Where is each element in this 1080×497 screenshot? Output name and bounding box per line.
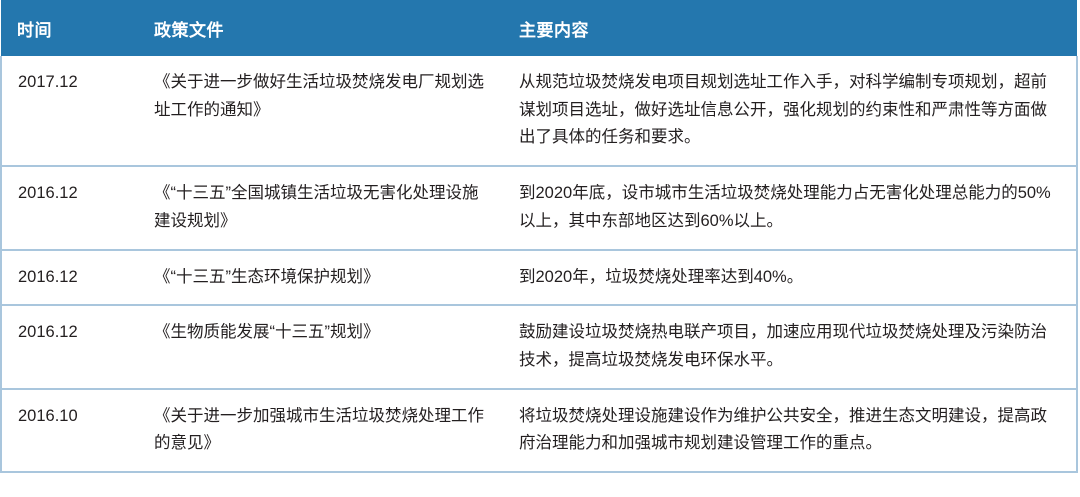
cell-date: 2016.12 [1, 166, 131, 249]
cell-content: 到2020年底，设市城市生活垃圾焚烧处理能力占无害化处理总能力的50%以上，其中… [506, 166, 1077, 249]
cell-document: 《关于进一步做好生活垃圾焚烧发电厂规划选址工作的通知》 [131, 56, 506, 166]
cell-document: 《关于进一步加强城市生活垃圾焚烧处理工作的意见》 [131, 389, 506, 472]
cell-date: 2016.10 [1, 389, 131, 472]
column-header-content: 主要内容 [506, 0, 1077, 56]
table-row: 2016.10 《关于进一步加强城市生活垃圾焚烧处理工作的意见》 将垃圾焚烧处理… [1, 389, 1077, 472]
table-row: 2016.12 《生物质能发展“十三五”规划》 鼓励建设垃圾焚烧热电联产项目，加… [1, 305, 1077, 388]
column-header-time: 时间 [1, 0, 131, 56]
cell-content: 将垃圾焚烧处理设施建设作为维护公共安全，推进生态文明建设，提高政府治理能力和加强… [506, 389, 1077, 472]
cell-date: 2016.12 [1, 250, 131, 306]
cell-content: 鼓励建设垃圾焚烧热电联产项目，加速应用现代垃圾焚烧处理及污染防治技术，提高垃圾焚… [506, 305, 1077, 388]
cell-document: 《“十三五”生态环境保护规划》 [131, 250, 506, 306]
table-header-row: 时间 政策文件 主要内容 [1, 0, 1077, 56]
table-row: 2017.12 《关于进一步做好生活垃圾焚烧发电厂规划选址工作的通知》 从规范垃… [1, 56, 1077, 166]
table-body: 2017.12 《关于进一步做好生活垃圾焚烧发电厂规划选址工作的通知》 从规范垃… [1, 56, 1077, 472]
column-header-document: 政策文件 [131, 0, 506, 56]
cell-content: 到2020年，垃圾焚烧处理率达到40%。 [506, 250, 1077, 306]
table-row: 2016.12 《“十三五”全国城镇生活垃圾无害化处理设施建设规划》 到2020… [1, 166, 1077, 249]
cell-date: 2016.12 [1, 305, 131, 388]
cell-document: 《生物质能发展“十三五”规划》 [131, 305, 506, 388]
cell-document: 《“十三五”全国城镇生活垃圾无害化处理设施建设规划》 [131, 166, 506, 249]
cell-content: 从规范垃圾焚烧发电项目规划选址工作入手，对科学编制专项规划，超前谋划项目选址，做… [506, 56, 1077, 166]
table-row: 2016.12 《“十三五”生态环境保护规划》 到2020年，垃圾焚烧处理率达到… [1, 250, 1077, 306]
policy-documents-table: 时间 政策文件 主要内容 2017.12 《关于进一步做好生活垃圾焚烧发电厂规划… [0, 0, 1078, 473]
cell-date: 2017.12 [1, 56, 131, 166]
table-header: 时间 政策文件 主要内容 [1, 0, 1077, 56]
